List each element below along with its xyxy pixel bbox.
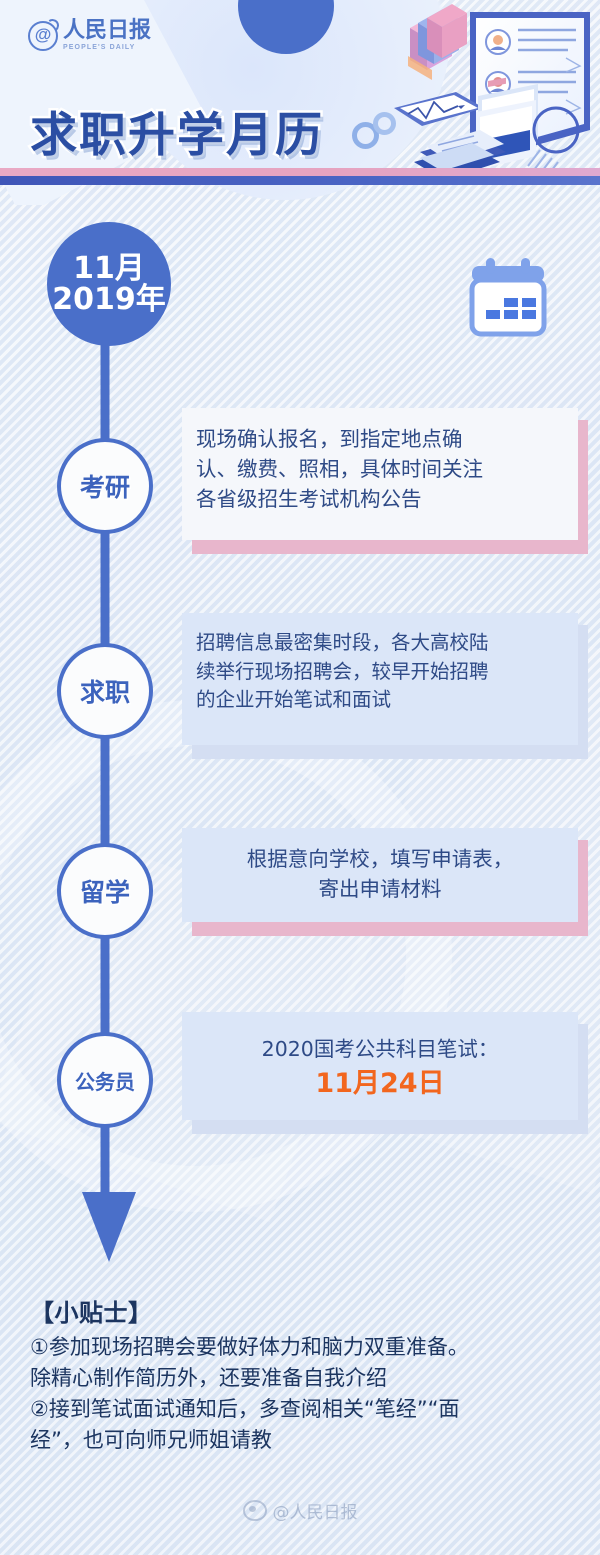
node-label: 求职 — [80, 673, 130, 709]
date-month: 11月 — [73, 253, 145, 285]
weibo-icon — [243, 1500, 267, 1521]
tips-line: 除精心制作简历外，还要准备自我介绍 — [30, 1363, 575, 1394]
calendar-icon — [462, 252, 554, 344]
node-label: 公务员 — [75, 1066, 135, 1095]
node-label: 留学 — [80, 873, 130, 909]
at-icon: @ — [28, 21, 58, 51]
card-line: 招聘信息最密集时段，各大高校陆 — [196, 629, 564, 658]
date-year: 2019年 — [52, 284, 166, 316]
card-line: 根据意向学校，填写申请表， — [196, 844, 564, 874]
card-line: 寄出申请材料 — [196, 874, 564, 904]
node-civil-servant[interactable]: 公务员 — [57, 1032, 153, 1128]
watermark-circle — [0, 700, 452, 1212]
date-badge: 11月 2019年 — [47, 222, 171, 346]
card-line: 现场确认报名，到指定地点确 — [196, 424, 564, 454]
footer-handle: @人民日报 — [273, 1498, 358, 1523]
card-line: 续举行现场招聘会，较早开始招聘 — [196, 658, 564, 687]
tips-title: 【小贴士】 — [30, 1293, 575, 1328]
card-line: 的企业开始笔试和面试 — [196, 686, 564, 715]
title-divider-pink — [0, 168, 600, 176]
down-arrow-icon — [82, 1192, 136, 1262]
page-title: 求职升学月历 — [30, 96, 324, 165]
card-line: 认、缴费、照相，具体时间关注 — [196, 454, 564, 484]
node-label: 考研 — [80, 468, 130, 504]
card-line: 2020国考公共科目笔试： — [196, 1034, 564, 1064]
page-footer: @人民日报 — [0, 1498, 600, 1523]
card-job-hunting: 招聘信息最密集时段，各大高校陆 续举行现场招聘会，较早开始招聘 的企业开始笔试和… — [182, 613, 578, 745]
infographic-page: @ 人民日报 PEOPLE'S DAILY 求职升学月历 11月 2019年 考… — [0, 0, 600, 1555]
card-line: 各省级招生考试机构公告 — [196, 484, 564, 514]
brand-logo: @ 人民日报 PEOPLE'S DAILY — [28, 20, 151, 51]
tips-line: ②接到笔试面试通知后，多查阅相关“笔经”“面 — [30, 1394, 575, 1425]
tips-line: ①参加现场招聘会要做好体力和脑力双重准备。 — [30, 1332, 575, 1363]
node-study-abroad[interactable]: 留学 — [57, 843, 153, 939]
brand-name-cn: 人民日报 — [63, 20, 151, 42]
tips-line: 经”，也可向师兄师姐请教 — [30, 1425, 575, 1456]
node-postgraduate-exam[interactable]: 考研 — [57, 438, 153, 534]
tips-section: 【小贴士】 ①参加现场招聘会要做好体力和脑力双重准备。 除精心制作简历外，还要准… — [30, 1293, 575, 1456]
brand-name-en: PEOPLE'S DAILY — [63, 44, 151, 51]
node-job-hunting[interactable]: 求职 — [57, 643, 153, 739]
exam-date-highlight: 11月24日 — [196, 1064, 564, 1104]
card-civil-servant: 2020国考公共科目笔试： 11月24日 — [182, 1012, 578, 1120]
title-divider-blue — [0, 176, 600, 185]
card-postgraduate-exam: 现场确认报名，到指定地点确 认、缴费、照相，具体时间关注 各省级招生考试机构公告 — [182, 408, 578, 540]
card-study-abroad: 根据意向学校，填写申请表， 寄出申请材料 — [182, 828, 578, 922]
